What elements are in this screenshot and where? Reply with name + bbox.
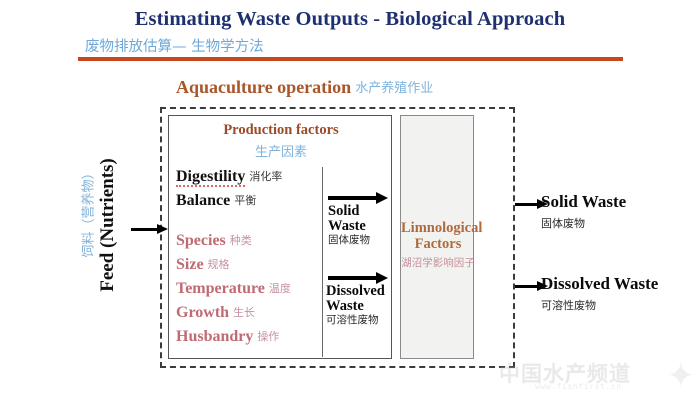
- watermark-text-cn: 中国水产频道: [499, 358, 631, 388]
- internal-solid-waste-label: Solid Waste 固体废物: [328, 204, 370, 245]
- factor-balance: Balance平衡: [176, 192, 256, 210]
- site-watermark: 中国水产频道 www.fishfirst.cn ✦: [495, 358, 695, 400]
- aquaculture-heading-en: Aquaculture operation: [176, 77, 351, 97]
- factor-growth: Growth生长: [176, 304, 255, 322]
- factor-husbandry-en: Husbandry: [176, 328, 253, 345]
- output-solid-waste-en: Solid Waste: [541, 192, 626, 212]
- factor-size-cn: 规格: [208, 258, 230, 271]
- internal-dissolved-waste-cn: 可溶性废物: [326, 315, 385, 326]
- internal-solid-waste-line2: Waste: [328, 219, 370, 234]
- aquaculture-operation-heading: Aquaculture operation水产养殖作业: [176, 77, 433, 98]
- internal-dissolved-waste-line2: Waste: [326, 299, 385, 314]
- feed-input-label-en: Feed (Nutrients): [97, 158, 119, 292]
- aquaculture-heading-cn: 水产养殖作业: [355, 81, 433, 96]
- feed-input-label-cn: 饲料（营养物）: [78, 166, 97, 257]
- page-title: Estimating Waste Outputs - Biological Ap…: [0, 8, 700, 31]
- factor-balance-en: Balance: [176, 192, 230, 209]
- output-dissolved-waste-en: Dissolved Waste: [541, 274, 658, 294]
- limnological-title-line2: Factors: [401, 236, 475, 252]
- factor-size: Size规格: [176, 256, 230, 274]
- factor-digestility-cn: 消化率: [249, 170, 282, 183]
- production-factors-title-cn: 生产因素: [169, 141, 393, 160]
- limnological-factors-box: Limnological Factors 湖沼学影响因子: [400, 115, 474, 359]
- factor-digestility: Digestility消化率: [176, 168, 282, 186]
- slide-canvas: Estimating Waste Outputs - Biological Ap…: [0, 0, 700, 400]
- internal-solid-waste-line1: Solid: [328, 204, 370, 219]
- factor-species-en: Species: [176, 232, 226, 249]
- factor-husbandry: Husbandry操作: [176, 328, 279, 346]
- internal-solid-waste-cn: 固体废物: [328, 235, 370, 246]
- factor-size-en: Size: [176, 256, 204, 273]
- output-solid-waste-cn: 固体废物: [541, 215, 626, 231]
- factor-balance-cn: 平衡: [234, 194, 256, 207]
- internal-dissolved-waste-label: Dissolved Waste 可溶性废物: [326, 284, 385, 325]
- limnological-title-line1: Limnological: [401, 220, 475, 236]
- factor-species: Species种类: [176, 232, 252, 250]
- fish-logo-icon: ✦: [667, 356, 696, 396]
- output-solid-waste-label: Solid Waste 固体废物: [541, 192, 626, 231]
- factor-temperature-en: Temperature: [176, 280, 265, 297]
- factor-growth-cn: 生长: [233, 306, 255, 319]
- production-box-divider: [322, 167, 323, 357]
- output-dissolved-waste-cn: 可溶性废物: [541, 297, 658, 313]
- production-factors-title-en: Production factors: [169, 122, 393, 139]
- limnological-factors-label: Limnological Factors 湖沼学影响因子: [401, 220, 475, 270]
- factor-species-cn: 种类: [230, 234, 252, 247]
- factor-digestility-en: Digestility: [176, 168, 245, 187]
- page-subtitle-chinese: 废物排放估算— 生物学方法: [85, 35, 264, 56]
- title-underline-rule: [78, 57, 623, 61]
- factor-temperature: Temperature温度: [176, 280, 291, 298]
- internal-dissolved-waste-line1: Dissolved: [326, 284, 385, 299]
- factor-temperature-cn: 温度: [269, 282, 291, 295]
- watermark-url: www.fishfirst.cn: [535, 382, 622, 391]
- output-dissolved-waste-label: Dissolved Waste 可溶性废物: [541, 274, 658, 313]
- limnological-title-cn: 湖沼学影响因子: [401, 255, 475, 270]
- factor-growth-en: Growth: [176, 304, 229, 321]
- factor-husbandry-cn: 操作: [257, 330, 279, 343]
